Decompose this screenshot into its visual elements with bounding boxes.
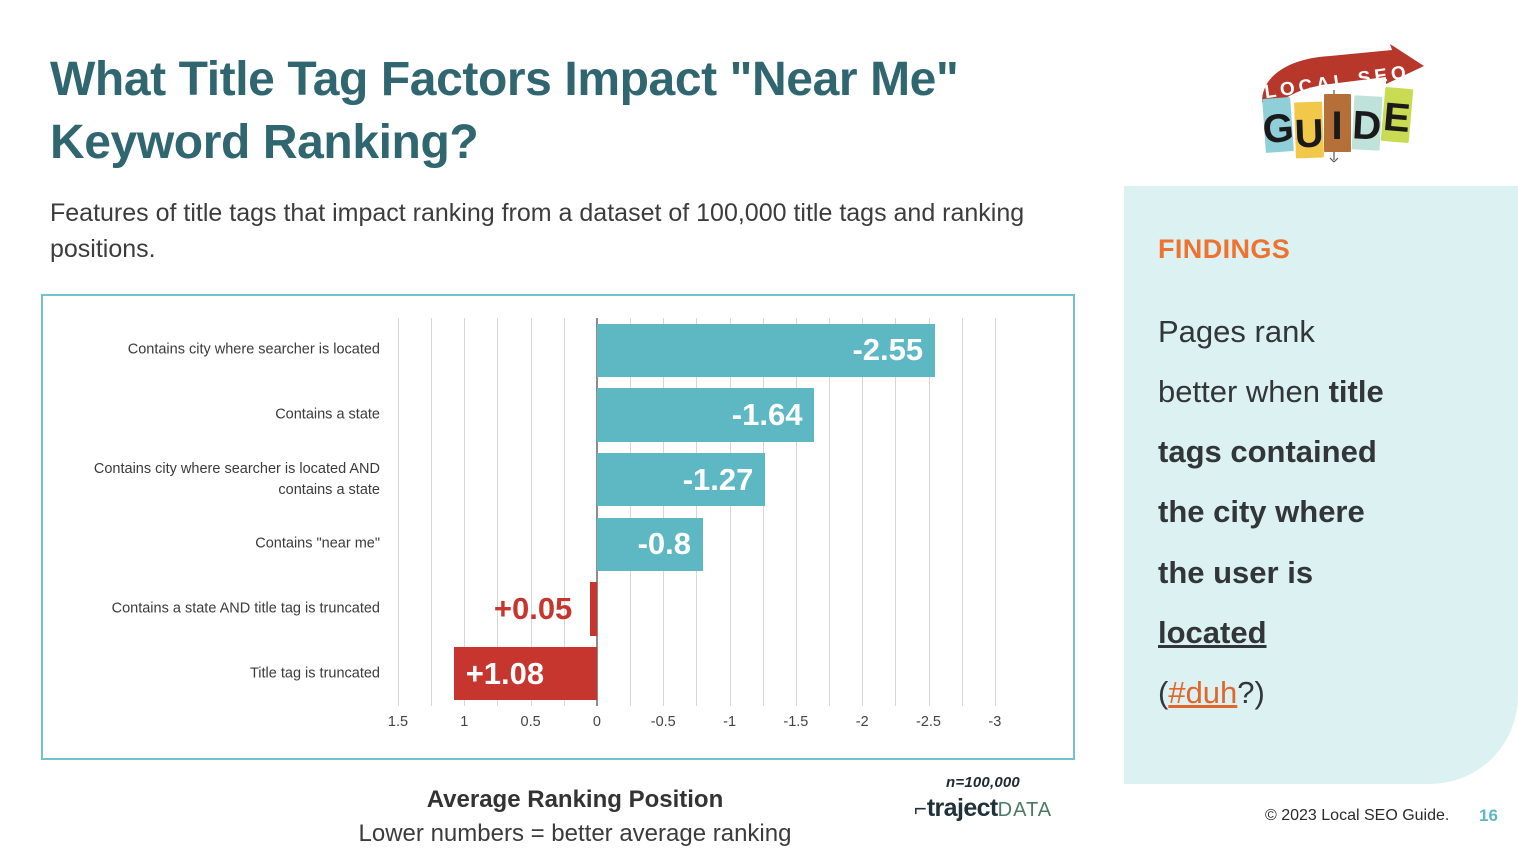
chart-bar-value-label: +0.05 [494,591,590,627]
chart-bar-value-label: -1.64 [720,397,815,433]
chart-bar: -1.27 [597,453,765,506]
svg-text:E: E [1382,95,1412,141]
chart-xaxis-title: Average Ranking Position [285,786,865,814]
chart-bar-value-label: -2.55 [840,332,935,368]
findings-line-1: Pages rank [1158,314,1315,349]
chart-bar-value-label: -0.8 [626,526,703,562]
chart-gridline [995,318,996,706]
chart-xtick-label: -2 [856,714,869,730]
svg-text:I: I [1331,104,1342,148]
traject-brand-suffix: DATA [998,799,1052,821]
svg-text:U: U [1294,112,1324,157]
findings-line-3: tags contained [1158,434,1377,469]
chart-gridline [431,318,432,706]
page-title: What Title Tag Factors Impact "Near Me" … [50,48,1170,175]
chart-bar: +1.08 [454,647,597,700]
findings-heading: FINDINGS [1158,234,1290,265]
chart-xtick-label: 1 [460,714,468,730]
local-seo-guide-logo: LOCAL SEO G U I D E [1252,44,1428,164]
chart-bar: -0.8 [597,518,703,571]
chart-xtick-label: -3 [988,714,1001,730]
findings-body: Pages rank better when title tags contai… [1158,302,1488,723]
traject-mark-icon: ⌐ [914,796,927,821]
findings-line-5: the user is [1158,555,1313,590]
chart-bar-value-label: +1.08 [454,656,556,692]
traject-brand-name: traject [927,794,998,822]
chart-gridline [398,318,399,706]
chart-bar-value-label: -1.27 [671,462,766,498]
chart-bar: +0.05 [590,582,597,635]
chart-xtick-label: 1.5 [388,714,408,730]
duh-link[interactable]: #duh [1168,675,1237,710]
logo-icon: LOCAL SEO G U I D E [1252,44,1428,164]
chart-xtick-label: 0 [593,714,601,730]
sample-size-note: n=100,000 [893,774,1073,791]
chart-container: Contains city where searcher is located-… [41,294,1075,760]
chart-category-label: Contains "near me" [50,534,380,555]
svg-text:D: D [1351,103,1382,148]
chart-category-label: Contains city where searcher is located [50,340,380,361]
chart-category-label: Contains city where searcher is located … [50,459,380,501]
chart-xtick-label: -1 [723,714,736,730]
findings-line-4: the city where [1158,494,1365,529]
findings-paren-open: ( [1158,675,1168,710]
chart-xtick-label: -2.5 [916,714,941,730]
findings-line-2-plain: better when [1158,374,1329,409]
chart-category-label: Title tag is truncated [50,663,380,684]
findings-paren-close: ?) [1237,675,1265,710]
chart-xtick-label: 0.5 [521,714,541,730]
findings-line-2-bold: title [1329,374,1384,409]
svg-text:G: G [1261,106,1295,152]
chart-category-label: Contains a state AND title tag is trunca… [50,598,380,619]
chart-xtick-label: -1.5 [783,714,808,730]
copyright-text: © 2023 Local SEO Guide. [1265,807,1449,825]
chart-bar: -2.55 [597,324,935,377]
page-number: 16 [1479,806,1498,826]
data-source-block: n=100,000 ⌐trajectDATA [893,774,1073,823]
chart-category-label: Contains a state [50,404,380,425]
chart-plot-area: Contains city where searcher is located-… [43,296,1073,758]
findings-panel: FINDINGS Pages rank better when title ta… [1124,186,1518,784]
chart-xtick-label: -0.5 [651,714,676,730]
traject-data-logo: ⌐trajectDATA [893,794,1073,823]
chart-bar: -1.64 [597,388,815,441]
chart-gridline [962,318,963,706]
page-subtitle: Features of title tags that impact ranki… [50,196,1095,267]
chart-xaxis-subtitle: Lower numbers = better average ranking [265,820,885,848]
findings-line-6: located [1158,615,1267,650]
